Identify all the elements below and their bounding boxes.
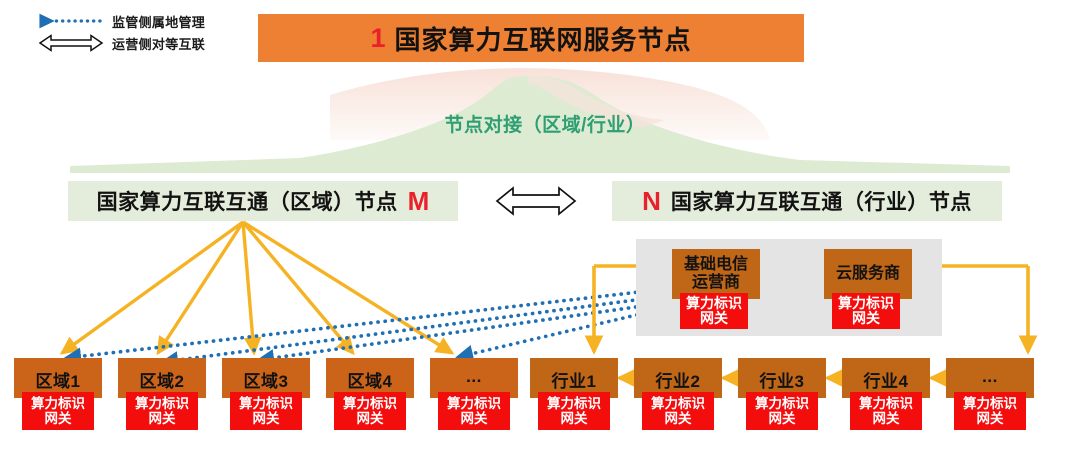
region-node-label: 国家算力互联互通（区域）节点 (97, 186, 398, 216)
leaf-gateway-region-4[interactable]: 算力标识网关 (334, 392, 406, 430)
leaf-gateway-label-industry-3: 算力标识网关 (755, 396, 809, 426)
leaf-gateway-line1-region-more: 算力标识 (447, 396, 501, 411)
telecom-gateway-line1: 算力标识 (686, 295, 742, 311)
region-node-letter: M (408, 186, 430, 217)
legend-item-operator: 运营侧对等互联 (28, 32, 258, 54)
leaf-gateway-line2-industry-more: 网关 (977, 411, 1004, 426)
diagram-canvas: 监管侧属地管理 运营侧对等互联 1 国家算力互联网服务节点 节点对接（区域/行业… (0, 0, 1080, 451)
leaf-gateway-industry-4[interactable]: 算力标识网关 (850, 392, 922, 430)
leaf-gateway-line2-region-3: 网关 (253, 411, 280, 426)
leaf-label-region-more: ... (466, 367, 482, 387)
leaf-label-industry-4: 行业4 (864, 367, 909, 392)
regulator-dotted-arrows (66, 285, 707, 362)
industry-node-letter: N (642, 186, 661, 217)
legend-item-regulator: 监管侧属地管理 (28, 10, 258, 32)
leaf-gateway-industry-3[interactable]: 算力标识网关 (746, 392, 818, 430)
cloud-gateway-box[interactable]: 算力标识 网关 (832, 293, 900, 329)
telecom-gateway-box[interactable]: 算力标识 网关 (680, 293, 748, 329)
telecom-operator-box[interactable]: 基础电信 运营商 (672, 249, 760, 299)
telecom-operator-line1: 基础电信 (684, 256, 748, 273)
cloud-gateway-line2: 网关 (852, 310, 880, 326)
leaf-gateway-line1-region-4: 算力标识 (343, 396, 397, 411)
page-title: 国家算力互联网服务节点 (395, 20, 692, 57)
leaf-gateway-line2-industry-3: 网关 (769, 411, 796, 426)
leaf-gateway-line2-region-2: 网关 (149, 411, 176, 426)
legend-item-regulator-label: 监管侧属地管理 (112, 12, 205, 31)
leaf-gateway-line2-industry-4: 网关 (873, 411, 900, 426)
telecom-gateway-label: 算力标识 网关 (686, 296, 742, 327)
industry-node-box[interactable]: N 国家算力互联互通（行业）节点 (612, 181, 1002, 221)
leaf-gateway-region-more[interactable]: 算力标识网关 (438, 392, 510, 430)
leaf-gateway-label-industry-2: 算力标识网关 (651, 396, 705, 426)
leaf-label-industry-2: 行业2 (656, 367, 701, 392)
leaf-gateway-label-industry-1: 算力标识网关 (547, 396, 601, 426)
leaf-gateway-line1-region-2: 算力标识 (135, 396, 189, 411)
telecom-operator-line2: 运营商 (692, 274, 740, 291)
leaf-gateway-label-region-4: 算力标识网关 (343, 396, 397, 426)
telecom-gateway-line2: 网关 (700, 310, 728, 326)
leaf-label-industry-3: 行业3 (760, 367, 805, 392)
node-peer-link-icon (497, 188, 575, 214)
cloud-provider-box[interactable]: 云服务商 (824, 249, 912, 299)
cloud-gateway-label: 算力标识 网关 (838, 296, 894, 327)
cloud-gateway-line1: 算力标识 (838, 295, 894, 311)
leaf-gateway-line2-region-1: 网关 (45, 411, 72, 426)
leaf-gateway-region-2[interactable]: 算力标识网关 (126, 392, 198, 430)
leaf-label-region-1: 区域1 (36, 367, 81, 392)
legend: 监管侧属地管理 运营侧对等互联 (28, 10, 258, 54)
leaf-label-industry-1: 行业1 (552, 367, 597, 392)
leaf-gateway-industry-1[interactable]: 算力标识网关 (538, 392, 610, 430)
telecom-operator-label: 基础电信 运营商 (684, 256, 748, 292)
leaf-gateway-region-3[interactable]: 算力标识网关 (230, 392, 302, 430)
leaf-gateway-line1-industry-1: 算力标识 (547, 396, 601, 411)
leaf-gateway-line2-region-more: 网关 (461, 411, 488, 426)
leaf-label-region-2: 区域2 (140, 367, 185, 392)
leaf-gateway-label-region-2: 算力标识网关 (135, 396, 189, 426)
leaf-label-industry-more: ... (982, 367, 998, 387)
dotted-left-arrow-icon (28, 10, 106, 32)
region-fan-arrows (62, 222, 452, 353)
leaf-gateway-line2-industry-1: 网关 (561, 411, 588, 426)
leaf-label-region-4: 区域4 (348, 367, 393, 392)
leaf-label-region-3: 区域3 (244, 367, 289, 392)
leaf-gateway-industry-2[interactable]: 算力标识网关 (642, 392, 714, 430)
leaf-gateway-line1-region-1: 算力标识 (31, 396, 85, 411)
leaf-gateway-line2-industry-2: 网关 (665, 411, 692, 426)
leaf-gateway-label-region-1: 算力标识网关 (31, 396, 85, 426)
docking-label: 节点对接（区域/行业） (395, 110, 695, 137)
leaf-gateway-industry-more[interactable]: 算力标识网关 (954, 392, 1026, 430)
leaf-gateway-label-region-3: 算力标识网关 (239, 396, 293, 426)
cloud-provider-label: 云服务商 (836, 265, 900, 283)
industry-node-label: 国家算力互联互通（行业）节点 (671, 186, 972, 216)
region-node-box[interactable]: 国家算力互联互通（区域）节点 M (68, 181, 458, 221)
leaf-gateway-line1-industry-3: 算力标识 (755, 396, 809, 411)
leaf-gateway-line1-industry-4: 算力标识 (859, 396, 913, 411)
leaf-gateway-line1-industry-more: 算力标识 (963, 396, 1017, 411)
hollow-double-arrow-icon (28, 32, 106, 54)
leaf-gateway-line1-region-3: 算力标识 (239, 396, 293, 411)
page-title-bar: 1 国家算力互联网服务节点 (258, 14, 804, 62)
leaf-gateway-label-industry-more: 算力标识网关 (963, 396, 1017, 426)
leaf-gateway-label-industry-4: 算力标识网关 (859, 396, 913, 426)
leaf-gateway-region-1[interactable]: 算力标识网关 (22, 392, 94, 430)
leaf-gateway-label-region-more: 算力标识网关 (447, 396, 501, 426)
leaf-gateway-line1-industry-2: 算力标识 (651, 396, 705, 411)
page-title-number: 1 (370, 23, 385, 54)
leaf-gateway-line2-region-4: 网关 (357, 411, 384, 426)
legend-item-operator-label: 运营侧对等互联 (112, 34, 205, 53)
